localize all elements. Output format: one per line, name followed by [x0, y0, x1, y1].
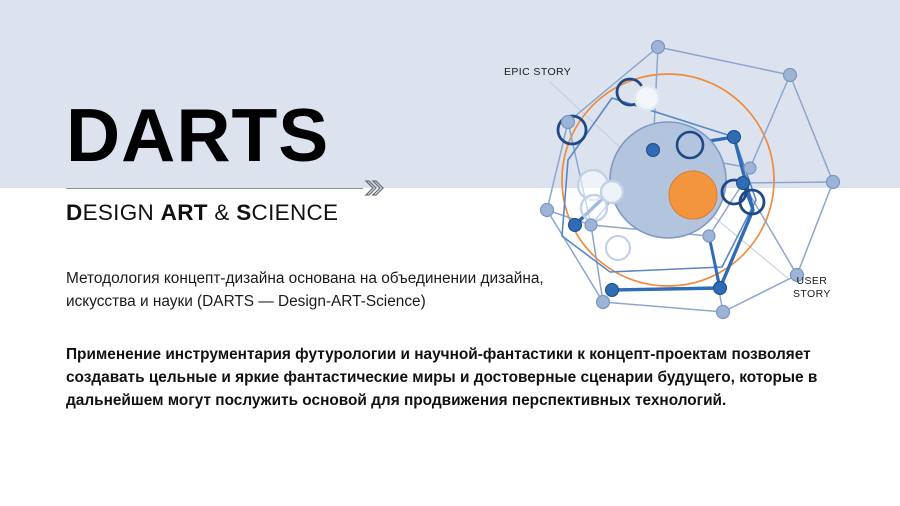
subtitle: DESIGN ART & SCIENCE [66, 200, 338, 226]
darts-network-diagram: EPIC STORY USER STORY [490, 40, 900, 330]
accent-orange-disc [669, 171, 717, 219]
label-user-story: USER STORY [793, 275, 831, 301]
label-user-story-line1: USER [793, 275, 831, 288]
slide-root: DARTS DESIGN ART & SCIENCE Методология к… [0, 0, 900, 506]
page-title: DARTS [66, 98, 329, 173]
double-chevron-right-icon [363, 177, 387, 199]
diagram-svg [490, 40, 900, 330]
body-paragraph-2: Применение инструментария футурологии и … [66, 343, 828, 412]
title-divider-rule [66, 188, 363, 189]
subtitle-art: ART [161, 200, 208, 225]
label-user-story-line2: STORY [793, 288, 831, 301]
subtitle-cience: CIENCE [252, 200, 339, 225]
subtitle-amp: & [208, 200, 236, 225]
chevron-svg [363, 177, 387, 199]
label-epic-story: EPIC STORY [504, 66, 571, 79]
subtitle-s: S [236, 200, 251, 225]
subtitle-d: D [66, 200, 83, 225]
subtitle-esign: ESIGN [83, 200, 161, 225]
